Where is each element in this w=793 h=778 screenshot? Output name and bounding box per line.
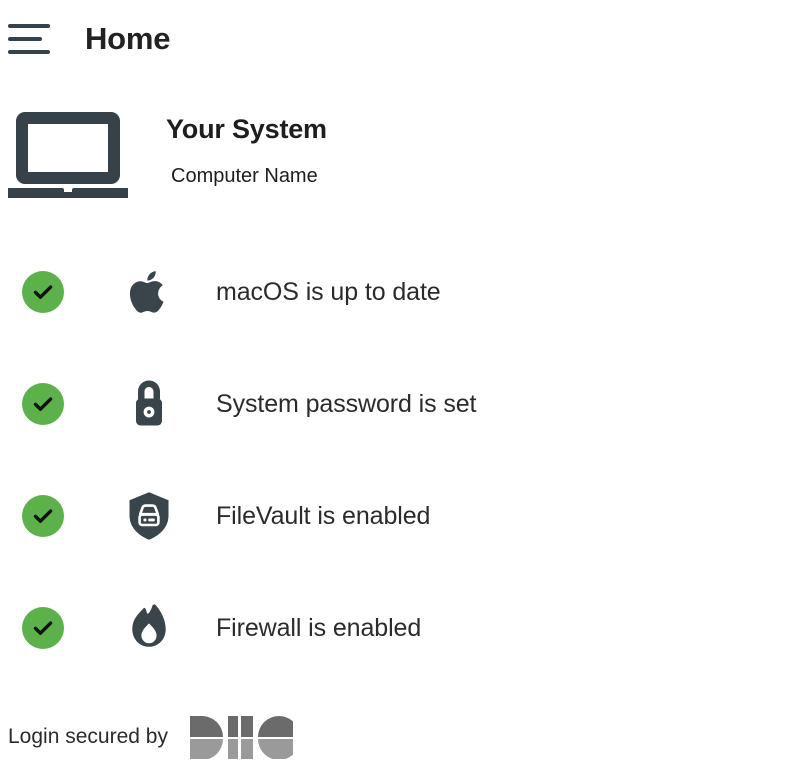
- hamburger-bar: [8, 37, 42, 41]
- page-title: Home: [85, 21, 170, 57]
- check-circle-icon: [22, 607, 64, 649]
- list-item-label: System password is set: [216, 390, 476, 419]
- security-checks-list: macOS is up to date System password is s…: [0, 236, 793, 684]
- laptop-icon: [8, 108, 128, 198]
- list-item[interactable]: macOS is up to date: [0, 236, 793, 348]
- flame-icon: [122, 601, 176, 655]
- padlock-icon: [122, 377, 176, 431]
- check-circle-icon: [22, 271, 64, 313]
- system-summary: Your System Computer Name: [0, 100, 793, 210]
- list-item-label: FileVault is enabled: [216, 502, 430, 531]
- hamburger-bar: [8, 24, 50, 28]
- footer: Login secured by: [0, 712, 793, 762]
- hamburger-menu-icon[interactable]: [8, 24, 52, 54]
- duo-logo: [190, 715, 293, 759]
- system-text-group: Your System Computer Name: [166, 100, 327, 188]
- list-item[interactable]: Firewall is enabled: [0, 572, 793, 684]
- check-circle-icon: [22, 495, 64, 537]
- list-item-label: macOS is up to date: [216, 278, 441, 307]
- apple-logo-icon: [122, 265, 176, 319]
- system-title: Your System: [166, 113, 327, 145]
- shield-disk-icon: [122, 489, 176, 543]
- list-item[interactable]: FileVault is enabled: [0, 460, 793, 572]
- hamburger-bar: [8, 50, 50, 54]
- list-item[interactable]: System password is set: [0, 348, 793, 460]
- list-item-label: Firewall is enabled: [216, 614, 421, 643]
- footer-text: Login secured by: [8, 725, 168, 749]
- check-circle-icon: [22, 383, 64, 425]
- app-header: Home: [0, 0, 793, 78]
- computer-name: Computer Name: [171, 164, 327, 188]
